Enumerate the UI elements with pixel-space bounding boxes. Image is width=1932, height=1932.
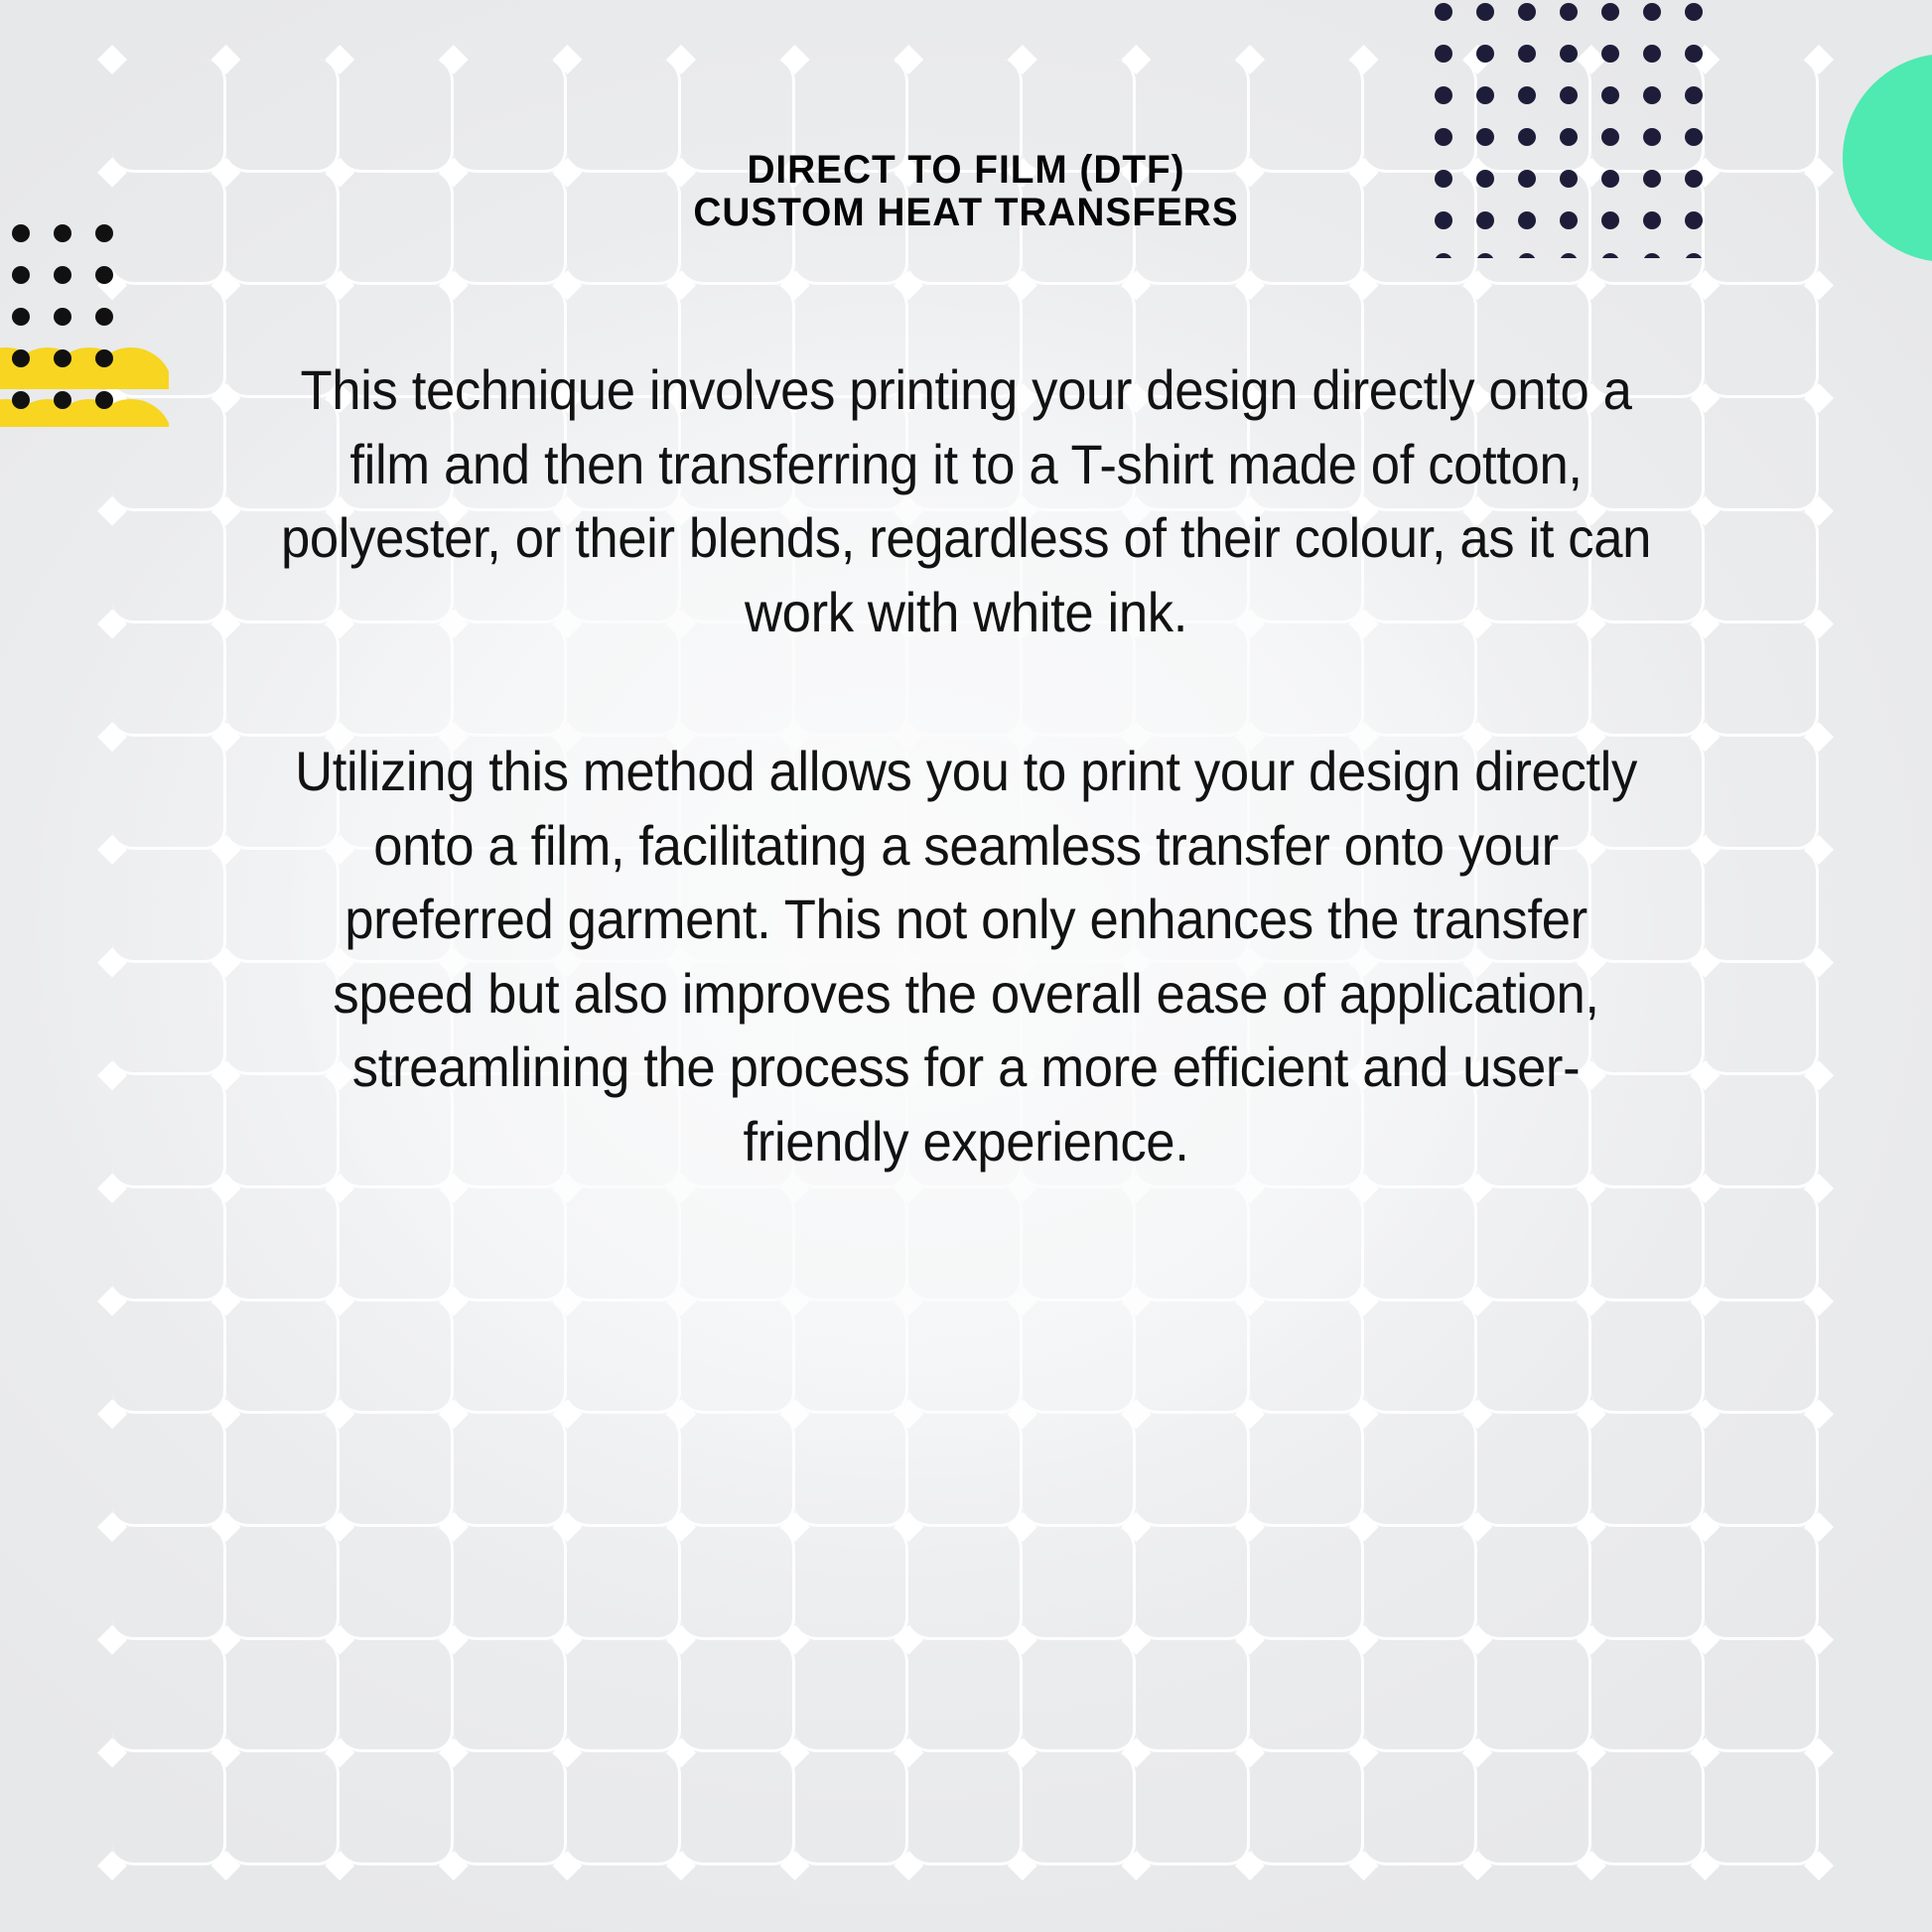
grid-cell bbox=[226, 1752, 341, 1865]
grid-cell bbox=[1705, 1527, 1819, 1640]
dot-icon bbox=[1435, 3, 1452, 21]
grid-cell bbox=[908, 1752, 1023, 1865]
dot-icon bbox=[1601, 128, 1619, 146]
grid-cell bbox=[340, 1752, 454, 1865]
grid-cell bbox=[681, 1640, 795, 1753]
grid-node-diamond-icon bbox=[1577, 45, 1606, 74]
dot-icon bbox=[1435, 86, 1452, 104]
grid-node-diamond-icon bbox=[552, 1738, 582, 1768]
grid-cell bbox=[795, 1752, 909, 1865]
grid-node-diamond-icon bbox=[1235, 1851, 1265, 1880]
grid-cell bbox=[567, 1302, 681, 1415]
grid-node-diamond-icon bbox=[1349, 1625, 1379, 1655]
grid-node-diamond-icon bbox=[894, 1512, 923, 1542]
poster-canvas: DIRECT TO FILM (DTF) CUSTOM HEAT TRANSFE… bbox=[0, 0, 1932, 1932]
grid-cell bbox=[226, 1188, 341, 1302]
dot-icon bbox=[1643, 86, 1661, 104]
grid-node-diamond-icon bbox=[1349, 1512, 1379, 1542]
grid-node-diamond-icon bbox=[1121, 1625, 1151, 1655]
grid-cell bbox=[226, 1414, 341, 1527]
grid-cell bbox=[1023, 1752, 1137, 1865]
grid-node-diamond-icon bbox=[780, 1738, 810, 1768]
grid-node-diamond-icon bbox=[211, 1287, 241, 1316]
grid-node-diamond-icon bbox=[439, 1287, 469, 1316]
grid-node-diamond-icon bbox=[780, 1399, 810, 1429]
grid-cell bbox=[1477, 1640, 1591, 1753]
grid-cell bbox=[1591, 1414, 1706, 1527]
grid-node-diamond-icon bbox=[211, 1625, 241, 1655]
grid-node-diamond-icon bbox=[1804, 1399, 1834, 1429]
grid-node-diamond-icon bbox=[666, 1851, 696, 1880]
grid-cell bbox=[1136, 1527, 1250, 1640]
grid-cell bbox=[567, 1527, 681, 1640]
grid-cell bbox=[908, 1188, 1023, 1302]
grid-node-diamond-icon bbox=[439, 1625, 469, 1655]
grid-cell bbox=[340, 1527, 454, 1640]
grid-cell bbox=[795, 1188, 909, 1302]
dot-icon bbox=[1685, 3, 1703, 21]
grid-cell bbox=[1250, 1752, 1364, 1865]
grid-row bbox=[112, 1527, 1820, 1640]
grid-node-diamond-icon bbox=[97, 1287, 127, 1316]
grid-node-diamond-icon bbox=[1121, 45, 1151, 74]
dot-icon bbox=[1601, 3, 1619, 21]
grid-node-diamond-icon bbox=[1577, 1738, 1606, 1768]
grid-node-diamond-icon bbox=[1462, 1287, 1492, 1316]
grid-node-diamond-icon bbox=[666, 1738, 696, 1768]
grid-node-diamond-icon bbox=[1008, 1399, 1037, 1429]
grid-node-diamond-icon bbox=[97, 45, 127, 74]
grid-cell bbox=[1364, 1302, 1478, 1415]
grid-cell bbox=[112, 1188, 226, 1302]
grid-node-diamond-icon bbox=[1235, 1512, 1265, 1542]
grid-cell bbox=[112, 1752, 226, 1865]
grid-node-diamond-icon bbox=[1462, 1738, 1492, 1768]
poster-content: DIRECT TO FILM (DTF) CUSTOM HEAT TRANSFE… bbox=[0, 149, 1932, 1178]
grid-cell bbox=[1136, 1302, 1250, 1415]
grid-node-diamond-icon bbox=[1690, 1512, 1720, 1542]
grid-cell bbox=[340, 1302, 454, 1415]
grid-node-diamond-icon bbox=[1349, 1851, 1379, 1880]
grid-cell bbox=[454, 1640, 568, 1753]
grid-cell bbox=[454, 1752, 568, 1865]
grid-node-diamond-icon bbox=[894, 1851, 923, 1880]
dot-icon bbox=[1560, 86, 1578, 104]
grid-cell bbox=[1477, 1188, 1591, 1302]
grid-node-diamond-icon bbox=[552, 1851, 582, 1880]
grid-node-diamond-icon bbox=[439, 1851, 469, 1880]
dot-icon bbox=[1435, 128, 1452, 146]
grid-cell bbox=[681, 1527, 795, 1640]
grid-cell bbox=[226, 1640, 341, 1753]
grid-cell bbox=[908, 1302, 1023, 1415]
title-line-2: CUSTOM HEAT TRANSFERS bbox=[145, 192, 1788, 234]
grid-node-diamond-icon bbox=[211, 1399, 241, 1429]
dot-icon bbox=[1518, 3, 1536, 21]
grid-node-diamond-icon bbox=[1121, 1287, 1151, 1316]
grid-node-diamond-icon bbox=[1462, 45, 1492, 74]
grid-node-diamond-icon bbox=[1690, 1287, 1720, 1316]
grid-cell bbox=[1364, 1527, 1478, 1640]
grid-cell bbox=[112, 1527, 226, 1640]
grid-cell bbox=[1364, 1640, 1478, 1753]
dot-icon bbox=[1685, 128, 1703, 146]
dot-icon bbox=[1476, 3, 1494, 21]
grid-node-diamond-icon bbox=[97, 1625, 127, 1655]
grid-cell bbox=[567, 1414, 681, 1527]
grid-cell bbox=[795, 1527, 909, 1640]
grid-cell bbox=[681, 1302, 795, 1415]
grid-cell bbox=[1250, 1188, 1364, 1302]
grid-node-diamond-icon bbox=[1235, 1738, 1265, 1768]
grid-cell bbox=[1705, 1752, 1819, 1865]
grid-cell bbox=[681, 1188, 795, 1302]
grid-node-diamond-icon bbox=[1804, 1738, 1834, 1768]
grid-node-diamond-icon bbox=[1804, 1287, 1834, 1316]
grid-node-diamond-icon bbox=[325, 1851, 354, 1880]
grid-node-diamond-icon bbox=[97, 1738, 127, 1768]
dot-icon bbox=[1476, 128, 1494, 146]
grid-node-diamond-icon bbox=[666, 45, 696, 74]
grid-node-diamond-icon bbox=[1804, 1625, 1834, 1655]
grid-node-diamond-icon bbox=[894, 1399, 923, 1429]
grid-node-diamond-icon bbox=[1804, 1512, 1834, 1542]
grid-node-diamond-icon bbox=[1008, 1287, 1037, 1316]
grid-cell bbox=[1591, 1188, 1706, 1302]
grid-node-diamond-icon bbox=[666, 1287, 696, 1316]
grid-node-diamond-icon bbox=[666, 1625, 696, 1655]
grid-node-diamond-icon bbox=[894, 45, 923, 74]
grid-cell bbox=[795, 1640, 909, 1753]
grid-node-diamond-icon bbox=[1121, 1738, 1151, 1768]
grid-node-diamond-icon bbox=[1008, 1851, 1037, 1880]
grid-cell bbox=[795, 1414, 909, 1527]
grid-node-diamond-icon bbox=[1008, 1738, 1037, 1768]
grid-cell bbox=[1591, 1640, 1706, 1753]
grid-node-diamond-icon bbox=[1577, 1287, 1606, 1316]
grid-cell bbox=[1705, 1302, 1819, 1415]
grid-cell bbox=[1136, 1752, 1250, 1865]
grid-cell bbox=[226, 1527, 341, 1640]
grid-node-diamond-icon bbox=[552, 1287, 582, 1316]
dot-icon bbox=[1643, 128, 1661, 146]
grid-node-diamond-icon bbox=[552, 1399, 582, 1429]
grid-cell bbox=[1023, 1302, 1137, 1415]
grid-node-diamond-icon bbox=[1008, 1512, 1037, 1542]
grid-node-diamond-icon bbox=[1349, 45, 1379, 74]
grid-node-diamond-icon bbox=[325, 1287, 354, 1316]
grid-cell bbox=[1364, 1188, 1478, 1302]
grid-cell bbox=[226, 1302, 341, 1415]
grid-node-diamond-icon bbox=[97, 1512, 127, 1542]
grid-node-diamond-icon bbox=[439, 1399, 469, 1429]
grid-node-diamond-icon bbox=[1008, 45, 1037, 74]
grid-node-diamond-icon bbox=[1462, 1512, 1492, 1542]
grid-node-diamond-icon bbox=[1462, 1625, 1492, 1655]
grid-cell bbox=[1023, 1414, 1137, 1527]
grid-node-diamond-icon bbox=[552, 1625, 582, 1655]
grid-node-diamond-icon bbox=[780, 1625, 810, 1655]
grid-node-diamond-icon bbox=[1804, 45, 1834, 74]
grid-cell bbox=[1364, 1752, 1478, 1865]
grid-node-diamond-icon bbox=[97, 1851, 127, 1880]
grid-node-diamond-icon bbox=[1690, 1851, 1720, 1880]
grid-cell bbox=[567, 1188, 681, 1302]
grid-node-diamond-icon bbox=[1121, 1512, 1151, 1542]
grid-cell bbox=[1250, 1640, 1364, 1753]
grid-node-diamond-icon bbox=[1690, 1625, 1720, 1655]
grid-cell bbox=[1023, 1640, 1137, 1753]
grid-node-diamond-icon bbox=[666, 1399, 696, 1429]
grid-cell bbox=[112, 1302, 226, 1415]
grid-row bbox=[112, 1414, 1820, 1527]
grid-node-diamond-icon bbox=[439, 1512, 469, 1542]
grid-node-diamond-icon bbox=[1235, 1399, 1265, 1429]
dot-icon bbox=[1518, 128, 1536, 146]
grid-node-diamond-icon bbox=[325, 1399, 354, 1429]
grid-cell bbox=[1023, 1188, 1137, 1302]
dot-icon bbox=[1518, 86, 1536, 104]
dot-icon bbox=[1476, 45, 1494, 63]
grid-node-diamond-icon bbox=[1462, 1399, 1492, 1429]
grid-node-diamond-icon bbox=[894, 1287, 923, 1316]
grid-node-diamond-icon bbox=[325, 1738, 354, 1768]
grid-cell bbox=[1591, 1302, 1706, 1415]
grid-cell bbox=[454, 1188, 568, 1302]
grid-node-diamond-icon bbox=[1690, 45, 1720, 74]
body-text: This technique involves printing your de… bbox=[119, 353, 1813, 1178]
dot-icon bbox=[1643, 3, 1661, 21]
dot-icon bbox=[1601, 45, 1619, 63]
grid-cell bbox=[340, 1414, 454, 1527]
grid-cell bbox=[112, 1640, 226, 1753]
grid-cell bbox=[1136, 1414, 1250, 1527]
grid-cell bbox=[1705, 1414, 1819, 1527]
grid-node-diamond-icon bbox=[1235, 45, 1265, 74]
grid-node-diamond-icon bbox=[780, 1851, 810, 1880]
grid-cell bbox=[1023, 1527, 1137, 1640]
grid-cell bbox=[454, 1302, 568, 1415]
grid-node-diamond-icon bbox=[439, 1738, 469, 1768]
grid-cell bbox=[112, 1414, 226, 1527]
grid-node-diamond-icon bbox=[1235, 1287, 1265, 1316]
dot-icon bbox=[1560, 128, 1578, 146]
grid-cell bbox=[567, 1640, 681, 1753]
grid-node-diamond-icon bbox=[1121, 1399, 1151, 1429]
paragraph-2: Utilizing this method allows you to prin… bbox=[273, 735, 1660, 1178]
grid-cell bbox=[1250, 1414, 1364, 1527]
grid-cell bbox=[340, 1640, 454, 1753]
grid-node-diamond-icon bbox=[211, 1512, 241, 1542]
grid-node-diamond-icon bbox=[1577, 1399, 1606, 1429]
grid-node-diamond-icon bbox=[666, 1512, 696, 1542]
grid-node-diamond-icon bbox=[1008, 1625, 1037, 1655]
grid-cell bbox=[1250, 1527, 1364, 1640]
grid-node-diamond-icon bbox=[894, 1625, 923, 1655]
grid-cell bbox=[567, 1752, 681, 1865]
grid-cell bbox=[681, 1414, 795, 1527]
grid-node-diamond-icon bbox=[1690, 1738, 1720, 1768]
dot-icon bbox=[1435, 45, 1452, 63]
grid-node-diamond-icon bbox=[1235, 1625, 1265, 1655]
grid-cell bbox=[908, 1527, 1023, 1640]
grid-node-diamond-icon bbox=[211, 45, 241, 74]
grid-node-diamond-icon bbox=[1462, 1851, 1492, 1880]
dot-icon bbox=[1643, 45, 1661, 63]
grid-cell bbox=[1136, 1188, 1250, 1302]
grid-cell bbox=[795, 1302, 909, 1415]
grid-node-diamond-icon bbox=[439, 45, 469, 74]
dot-icon bbox=[1518, 45, 1536, 63]
grid-cell bbox=[1477, 1302, 1591, 1415]
grid-cell bbox=[1250, 1302, 1364, 1415]
grid-cell bbox=[1591, 1752, 1706, 1865]
grid-cell bbox=[908, 1640, 1023, 1753]
dot-icon bbox=[1560, 3, 1578, 21]
grid-cell bbox=[1136, 1640, 1250, 1753]
grid-cell bbox=[1705, 1188, 1819, 1302]
grid-row bbox=[112, 1640, 1820, 1753]
grid-node-diamond-icon bbox=[211, 1738, 241, 1768]
grid-row bbox=[112, 1302, 1820, 1415]
dot-icon bbox=[1560, 45, 1578, 63]
grid-cell bbox=[454, 1527, 568, 1640]
dot-icon bbox=[1685, 86, 1703, 104]
grid-cell bbox=[681, 1752, 795, 1865]
grid-node-diamond-icon bbox=[780, 1512, 810, 1542]
grid-node-diamond-icon bbox=[780, 45, 810, 74]
dot-icon bbox=[1476, 86, 1494, 104]
grid-cell bbox=[1364, 1414, 1478, 1527]
grid-node-diamond-icon bbox=[1349, 1287, 1379, 1316]
grid-row bbox=[112, 1188, 1820, 1302]
grid-node-diamond-icon bbox=[1804, 1851, 1834, 1880]
grid-node-diamond-icon bbox=[1577, 1512, 1606, 1542]
title-line-1: DIRECT TO FILM (DTF) bbox=[145, 149, 1788, 192]
grid-cell bbox=[1477, 1414, 1591, 1527]
grid-cell bbox=[1591, 1527, 1706, 1640]
grid-node-diamond-icon bbox=[325, 45, 354, 74]
page-title: DIRECT TO FILM (DTF) CUSTOM HEAT TRANSFE… bbox=[119, 149, 1813, 234]
paragraph-1: This technique involves printing your de… bbox=[273, 353, 1660, 649]
grid-node-diamond-icon bbox=[1349, 1738, 1379, 1768]
grid-node-diamond-icon bbox=[894, 1738, 923, 1768]
grid-node-diamond-icon bbox=[1121, 1851, 1151, 1880]
grid-cell bbox=[340, 1188, 454, 1302]
grid-cell bbox=[908, 1414, 1023, 1527]
grid-node-diamond-icon bbox=[1349, 1399, 1379, 1429]
grid-node-diamond-icon bbox=[211, 1851, 241, 1880]
grid-node-diamond-icon bbox=[552, 45, 582, 74]
grid-node-diamond-icon bbox=[97, 1399, 127, 1429]
grid-node-diamond-icon bbox=[325, 1512, 354, 1542]
grid-node-diamond-icon bbox=[1577, 1625, 1606, 1655]
grid-row bbox=[112, 1752, 1820, 1865]
grid-cell bbox=[1705, 1640, 1819, 1753]
grid-node-diamond-icon bbox=[1577, 1851, 1606, 1880]
grid-node-diamond-icon bbox=[1690, 1399, 1720, 1429]
grid-cell bbox=[1477, 1752, 1591, 1865]
grid-node-diamond-icon bbox=[780, 1287, 810, 1316]
grid-cell bbox=[1477, 1527, 1591, 1640]
grid-node-diamond-icon bbox=[325, 1625, 354, 1655]
dot-icon bbox=[1685, 45, 1703, 63]
dot-icon bbox=[1601, 86, 1619, 104]
grid-node-diamond-icon bbox=[552, 1512, 582, 1542]
grid-cell bbox=[454, 1414, 568, 1527]
